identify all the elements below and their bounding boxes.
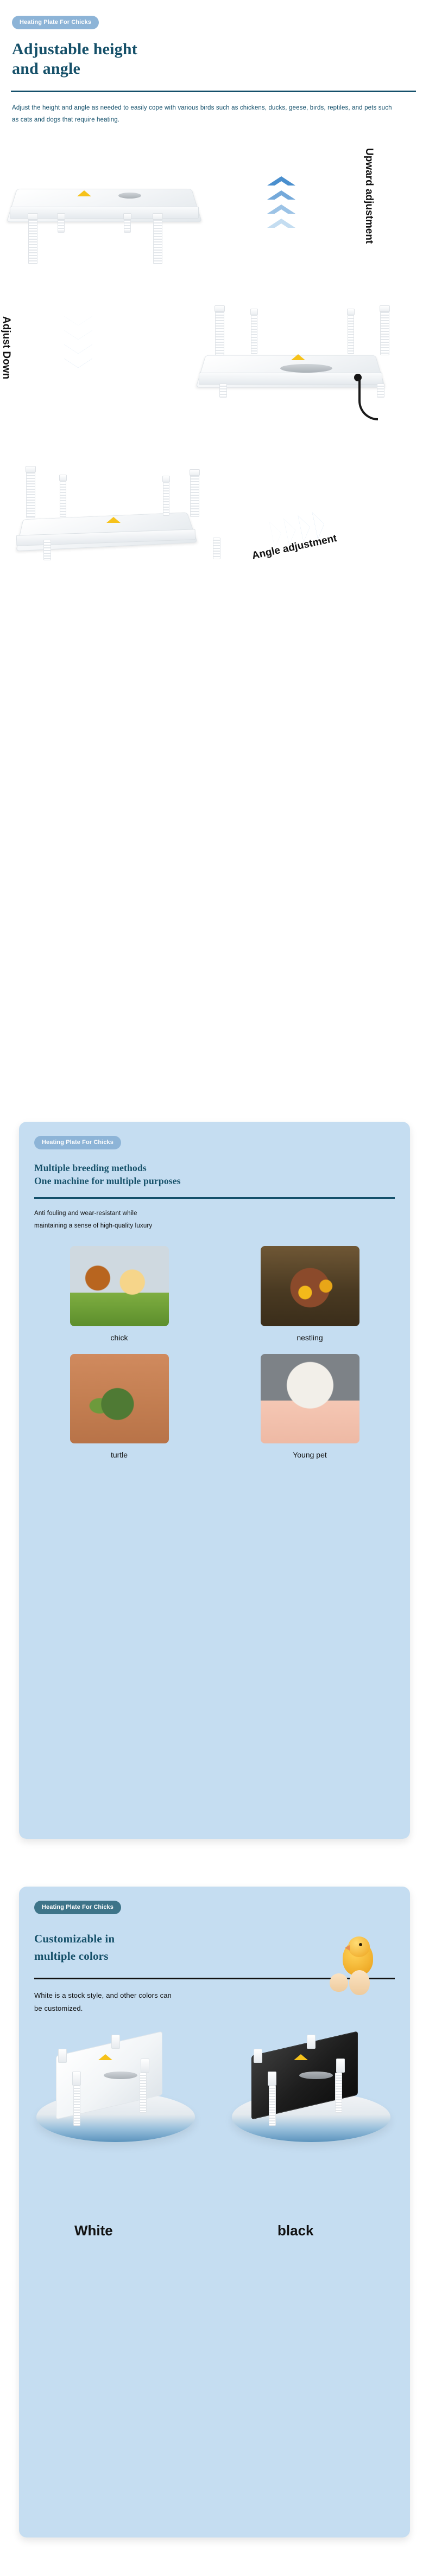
chevron-up-icon [267,176,295,186]
chevron-down-icon [64,359,92,368]
breeding-photo-cell: Young pet [225,1354,395,1467]
photo-nestling [261,1246,359,1326]
spec-label-oval [118,193,141,199]
product-leg [163,480,169,516]
warning-triangle-icon [98,2054,112,2060]
chevron-down-icon [64,344,92,354]
product-leg [60,479,66,517]
power-cord [358,379,378,420]
stage-adjust-down: Adjust Down [0,305,429,468]
breeding-title-line-2: One machine for multiple purposes [34,1175,181,1186]
warning-triangle-icon [106,517,121,523]
hero-badge-wrap: Heating Plate For Chicks [12,0,417,29]
product-leg [215,310,224,355]
spec-label-oval [299,2072,333,2079]
chevron-up-icon [267,219,295,228]
breeding-photo-cell: chick [34,1246,204,1350]
breeding-title-line-1: Multiple breeding methods [34,1162,147,1173]
chick-illustration-icon [330,1936,382,1996]
breeding-photo-cell: nestling [225,1246,395,1350]
photo-caption-nestling: nestling [296,1333,323,1342]
chevron-up-icon [267,204,295,214]
badge-heating-plate-breeding: Heating Plate For Chicks [34,1136,121,1149]
product-leg [251,313,257,354]
product-foot [43,540,51,560]
photo-young-pet [261,1354,359,1443]
photo-caption-young-pet: Young pet [293,1450,327,1459]
photo-turtle [70,1354,169,1443]
hero-divider [11,91,416,92]
colors-paragraph-line-1: White is a stock style, and other colors… [34,1991,172,1999]
breeding-subtitle: Anti fouling and wear-resistant while ma… [34,1207,395,1232]
page-title-line-1: Adjustable height [12,40,137,58]
spec-label-oval [104,2072,137,2079]
badge-heating-plate-colors: Heating Plate For Chicks [34,1901,121,1914]
section-adjustable-height: Heating Plate For Chicks Adjustable heig… [0,0,429,613]
label-adjust-down: Adjust Down [0,316,12,379]
product-leg [26,470,35,518]
breeding-title: Multiple breeding methods One machine fo… [34,1161,395,1187]
product-leg [28,218,37,264]
product-leg [153,218,162,264]
breeding-photo-grid: chick nestling turtle Young pet [34,1246,395,1467]
product-foot [377,383,384,398]
colors-badge-wrap: Heating Plate For Chicks [34,1887,395,1914]
stage-upward-adjustment: Upward adjustment [0,126,429,305]
breeding-subtitle-line-1: Anti fouling and wear-resistant while [34,1210,137,1217]
color-label-white: White [74,2222,113,2239]
warning-triangle-icon [77,190,91,196]
chevron-down-icon [64,316,92,325]
chevron-down-icon [64,330,92,340]
colors-paragraph-line-2: be customized. [34,2004,83,2012]
photo-caption-chick: chick [111,1333,128,1342]
page-title-line-2: and angle [12,60,80,78]
section-multiple-breeding-methods: Heating Plate For Chicks Multiple breedi… [19,1122,410,1839]
colors-title-line-2: multiple colors [34,1949,109,1963]
product-leg [124,218,131,233]
breeding-photo-cell: turtle [34,1354,204,1467]
colors-title-line-1: Customizable in [34,1932,115,1945]
chevron-stack-down [64,316,92,368]
badge-heating-plate-hero: Heating Plate For Chicks [12,16,99,29]
breeding-divider [34,1197,395,1199]
product-leg [190,474,199,517]
product-leg [58,218,65,233]
product-leg [348,313,354,354]
breeding-subtitle-line-2: maintaining a sense of high-quality luxu… [34,1223,152,1229]
hero-paragraph: Adjust the height and angle as needed to… [12,102,392,126]
color-comparison-stage: White black [34,2015,395,2270]
warning-triangle-icon [291,354,305,360]
label-upward-adjustment: Upward adjustment [363,148,375,244]
chevron-up-icon [267,190,295,200]
breeding-badge-wrap: Heating Plate For Chicks [34,1122,395,1149]
product-leg [380,310,389,355]
photo-caption-turtle: turtle [111,1450,128,1459]
stage-angle-adjustment: Angle adjustment [0,468,429,613]
product-foot [219,383,227,398]
photo-chick [70,1246,169,1326]
section-customizable-colors: Heating Plate For Chicks Customizable in… [19,1887,410,2537]
product-foot [213,538,220,559]
warning-triangle-icon [294,2054,308,2060]
spec-label-oval [280,364,332,373]
chevron-stack-up [267,176,295,228]
color-label-black: black [277,2222,314,2239]
page-title: Adjustable height and angle [12,40,417,79]
